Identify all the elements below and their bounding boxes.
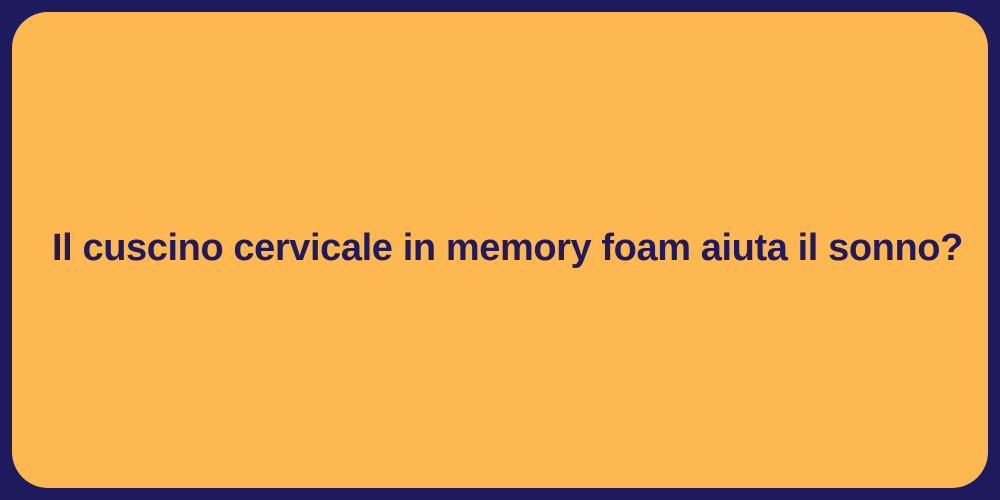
page-frame: Il cuscino cervicale in memory foam aiut… [0,0,1000,500]
question-card: Il cuscino cervicale in memory foam aiut… [12,12,988,488]
page-title: Il cuscino cervicale in memory foam aiut… [12,228,988,270]
